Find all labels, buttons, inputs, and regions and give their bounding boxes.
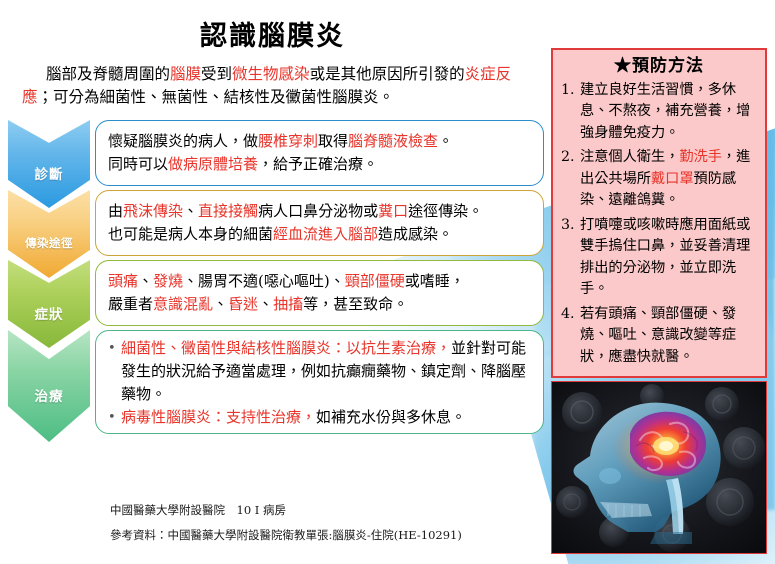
brain-illustration-svg <box>552 382 765 552</box>
symptoms-line-2: 嚴重者意識混亂、昏迷、抽搐等，甚至致命。 <box>108 293 531 316</box>
list-item: 細菌性、黴菌性與結核性腦膜炎：以抗生素治療，並針對可能發生的狀況給予適當處理，例… <box>108 337 531 406</box>
credit-reference-line: 參考資料：中國醫藥大學附設醫院衛教單張:腦膜炎-住院(HE-10291) <box>110 525 462 546</box>
content-box-symptoms: 頭痛、發燒、腸胃不適(噁心嘔吐)、頸部僵硬或嗜睡， 嚴重者意識混亂、昏迷、抽搐等… <box>95 260 544 326</box>
diagnosis-line-1: 懷疑腦膜炎的病人，做腰椎穿刺取得腦脊髓液檢查。 <box>108 130 531 153</box>
prevention-item-number: 2. <box>561 147 575 169</box>
prevention-item-number: 3. <box>561 215 575 237</box>
prevention-item-text: 打噴嚏或咳嗽時應用面紙或雙手摀住口鼻，並妥善清理排出的分泌物，並立即洗手。 <box>580 217 750 298</box>
list-item: 2. 注意個人衛生，勤洗手，進出公共場所戴口罩預防感染、遠離鴿糞。 <box>561 147 757 212</box>
content-box-transmission: 由飛沫傳染、直接接觸病人口鼻分泌物或糞口途徑傳染。 也可能是病人本身的細菌經血流… <box>95 190 544 256</box>
prevention-item-number: 4. <box>561 304 575 326</box>
content-box-diagnosis: 懷疑腦膜炎的病人，做腰椎穿刺取得腦脊髓液檢查。 同時可以做病原體培養，給予正確治… <box>95 120 544 186</box>
list-item: 病毒性腦膜炎：支持性治療，如補充水份與多休息。 <box>108 406 531 429</box>
prevention-item-text: 建立良好生活習慣，多休息、不熬夜，補充營養，增強身體免疫力。 <box>580 82 750 141</box>
treatment-bullet-1-text: 細菌性、黴菌性與結核性腦膜炎：以抗生素治療，並針對可能發生的狀況給予適當處理，例… <box>121 339 526 403</box>
intro-paragraph: 腦部及脊髓周圍的腦膜受到微生物感染或是其他原因所引發的炎症反應；可分為細菌性、無… <box>22 63 537 109</box>
poster-canvas: 認識腦膜炎 腦部及脊髓周圍的腦膜受到微生物感染或是其他原因所引發的炎症反應；可分… <box>0 0 775 564</box>
page-title: 認識腦膜炎 <box>0 14 545 53</box>
transmission-line-2: 也可能是病人本身的細菌經血流進入腦部造成感染。 <box>108 223 531 246</box>
chevron-label-diagnosis: 診斷 <box>35 163 64 183</box>
treatment-bullet-list: 細菌性、黴菌性與結核性腦膜炎：以抗生素治療，並針對可能發生的狀況給予適當處理，例… <box>108 337 531 429</box>
prevention-item-text: 注意個人衛生，勤洗手，進出公共場所戴口罩預防感染、遠離鴿糞。 <box>580 149 750 208</box>
prevention-panel: ★預防方法 1. 建立良好生活習慣，多休息、不熬夜，補充營養，增強身體免疫力。 … <box>551 48 767 378</box>
list-item: 1. 建立良好生活習慣，多休息、不熬夜，補充營養，增強身體免疫力。 <box>561 80 757 145</box>
list-item: 3. 打噴嚏或咳嗽時應用面紙或雙手摀住口鼻，並妥善清理排出的分泌物，並立即洗手。 <box>561 215 757 301</box>
flow-row-transmission: 傳染途徑 由飛沫傳染、直接接觸病人口鼻分泌物或糞口途徑傳染。 也可能是病人本身的… <box>8 190 544 252</box>
chevron-label-symptoms: 症狀 <box>35 303 64 323</box>
treatment-bullet-2-text: 病毒性腦膜炎：支持性治療，如補充水份與多休息。 <box>121 408 466 426</box>
chevron-label-transmission: 傳染途徑 <box>25 235 73 251</box>
flow-chart: 診斷 懷疑腦膜炎的病人，做腰椎穿刺取得腦脊髓液檢查。 同時可以做病原體培養，給予… <box>8 120 544 432</box>
content-box-treatment: 細菌性、黴菌性與結核性腦膜炎：以抗生素治療，並針對可能發生的狀況給予適當處理，例… <box>95 330 544 434</box>
transmission-line-1: 由飛沫傳染、直接接觸病人口鼻分泌物或糞口途徑傳染。 <box>108 200 531 223</box>
credits-block: 中國醫藥大學附設醫院 10 I 病房 參考資料：中國醫藥大學附設醫院衛教單張:腦… <box>110 500 462 546</box>
chevron-treatment: 治療 <box>8 330 90 442</box>
prevention-list: 1. 建立良好生活習慣，多休息、不熬夜，補充營養，增強身體免疫力。 2. 注意個… <box>561 80 757 369</box>
diagnosis-line-2: 同時可以做病原體培養，給予正確治療。 <box>108 153 531 176</box>
flow-row-treatment: 治療 細菌性、黴菌性與結核性腦膜炎：以抗生素治療，並針對可能發生的狀況給予適當處… <box>8 330 544 432</box>
prevention-item-text: 若有頭痛、頸部僵硬、發燒、嘔吐、意識改變等症狀，應盡快就醫。 <box>580 306 736 365</box>
brain-illustration <box>551 381 767 554</box>
chevron-label-treatment: 治療 <box>35 385 64 405</box>
flow-row-diagnosis: 診斷 懷疑腦膜炎的病人，做腰椎穿刺取得腦脊髓液檢查。 同時可以做病原體培養，給予… <box>8 120 544 182</box>
symptoms-line-1: 頭痛、發燒、腸胃不適(噁心嘔吐)、頸部僵硬或嗜睡， <box>108 270 531 293</box>
prevention-title: ★預防方法 <box>561 56 757 78</box>
credit-ward-line: 中國醫藥大學附設醫院 10 I 病房 <box>110 500 462 521</box>
flow-row-symptoms: 症狀 頭痛、發燒、腸胃不適(噁心嘔吐)、頸部僵硬或嗜睡， 嚴重者意識混亂、昏迷、… <box>8 260 544 322</box>
list-item: 4. 若有頭痛、頸部僵硬、發燒、嘔吐、意識改變等症狀，應盡快就醫。 <box>561 304 757 369</box>
prevention-item-number: 1. <box>561 80 575 102</box>
intro-rich-text: 腦部及脊髓周圍的腦膜受到微生物感染或是其他原因所引發的炎症反應；可分為細菌性、無… <box>22 65 511 106</box>
